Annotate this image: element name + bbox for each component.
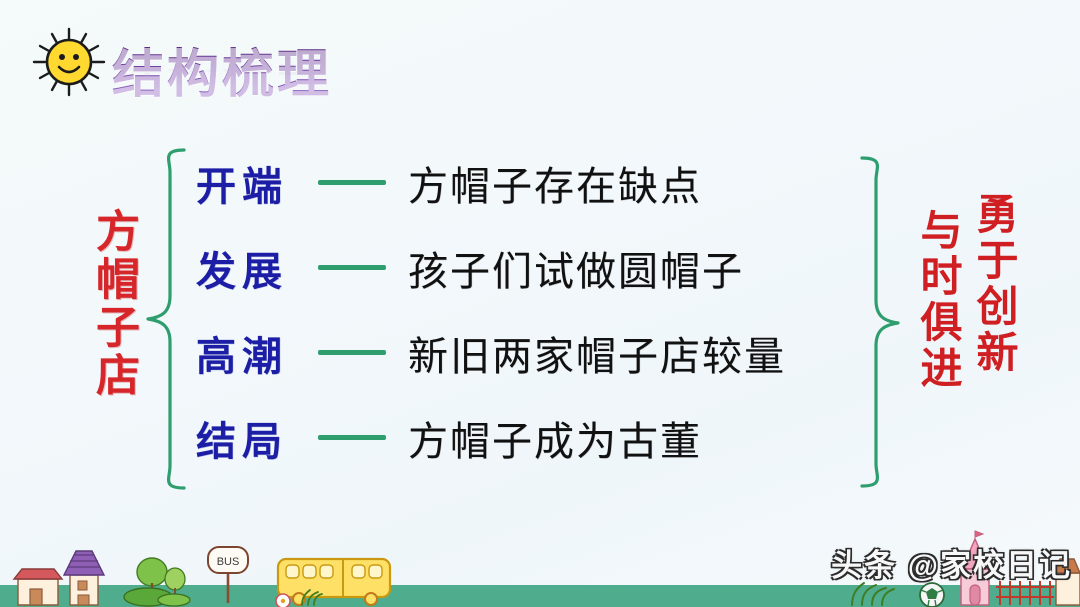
outcome-label-2: 勇于创新 <box>962 192 1014 376</box>
left-brace-icon <box>140 144 194 494</box>
grass-icon <box>852 583 894 605</box>
diagram-row: 高潮 新旧两家帽子店较量 <box>196 310 856 395</box>
diagram-root-label: 方帽子店 <box>78 208 136 400</box>
sun-smiley-icon <box>26 26 112 98</box>
soccer-ball-icon <box>920 583 944 607</box>
structure-diagram: 方帽子店 开端 方帽子存在缺点 发展 孩子们试做圆帽子 高潮 新旧两家帽子店较量 <box>0 130 1080 510</box>
bus-stop-sign-icon: BUS <box>208 547 248 603</box>
stage-detail-1: 方帽子存在缺点 <box>408 154 702 212</box>
flower-icon <box>276 594 290 607</box>
connector-dash-1 <box>318 180 386 185</box>
bus-icon <box>278 559 390 605</box>
stage-label-2: 发展 <box>196 239 312 297</box>
stage-detail-2: 孩子们试做圆帽子 <box>408 239 744 297</box>
stage-label-1: 开端 <box>196 154 312 212</box>
diagram-row: 发展 孩子们试做圆帽子 <box>196 225 856 310</box>
bush-icon <box>124 588 190 606</box>
connector-dash-4 <box>318 435 386 440</box>
stage-label-3: 高潮 <box>196 324 312 382</box>
slide-canvas: 结构梳理 结构梳理 方帽子店 开端 方帽子存在缺点 发展 孩子们试做圆帽子 高潮 <box>0 0 1080 607</box>
stage-detail-3: 新旧两家帽子店较量 <box>408 324 786 382</box>
slide-title-bar: 结构梳理 结构梳理 <box>0 8 1080 118</box>
page-title: 结构梳理 <box>112 32 332 107</box>
bus-sign-text: BUS <box>217 556 240 568</box>
connector-dash-3 <box>318 350 386 355</box>
diagram-rows: 开端 方帽子存在缺点 发展 孩子们试做圆帽子 高潮 新旧两家帽子店较量 结局 方… <box>196 140 856 480</box>
stage-label-4: 结局 <box>196 409 312 467</box>
outcome-label-1: 与时俱进 <box>906 208 958 392</box>
house-icon <box>64 551 104 605</box>
house-icon <box>14 569 62 605</box>
right-brace-icon <box>852 152 906 492</box>
stage-detail-4: 方帽子成为古董 <box>408 409 702 467</box>
diagram-row: 结局 方帽子成为古董 <box>196 395 856 480</box>
watermark-text: 头条 @家校日记 <box>831 540 1072 585</box>
diagram-row: 开端 方帽子存在缺点 <box>196 140 856 225</box>
connector-dash-2 <box>318 265 386 270</box>
